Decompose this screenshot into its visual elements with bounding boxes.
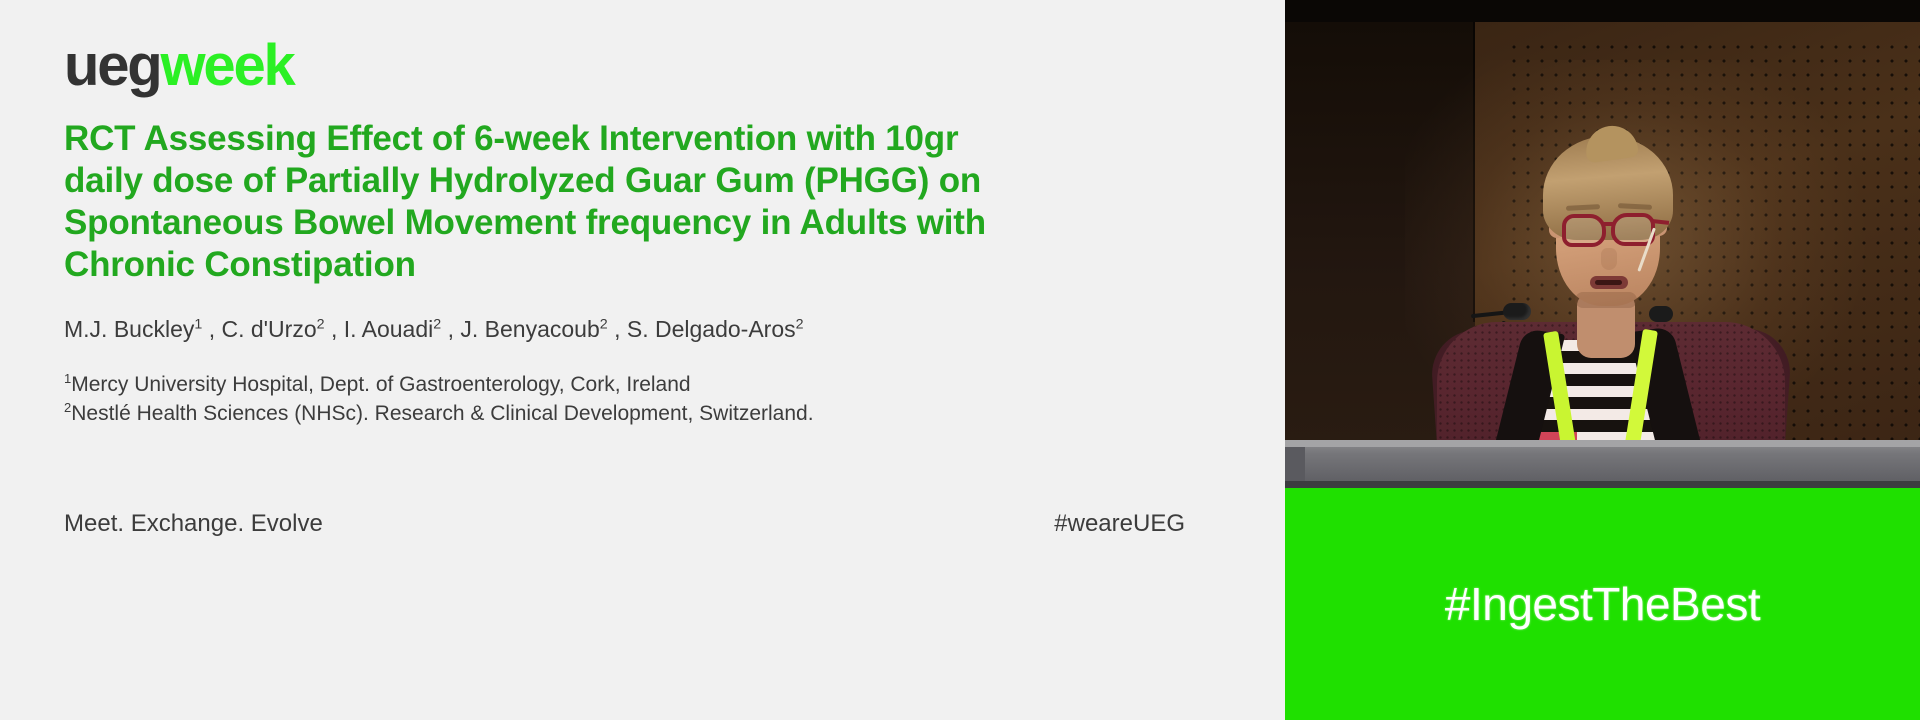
footer-hashtag: #weareUEG (1054, 510, 1185, 538)
author-affiliation-marker: 2 (796, 316, 804, 332)
slide-footer: Meet. Exchange. Evolve #weareUEG (64, 510, 1245, 538)
author-separator: , (325, 316, 344, 342)
author-affiliation-marker: 2 (433, 316, 441, 332)
author-separator: , (202, 316, 221, 342)
ueg-week-presentation-slide: uegweek RCT Assessing Effect of 6-week I… (0, 0, 1920, 720)
author-name: C. d'Urzo (221, 316, 316, 342)
affiliation-text: Mercy University Hospital, Dept. of Gast… (71, 373, 690, 396)
logo-text-week: week (161, 33, 294, 98)
affiliation-item: 2Nestlé Health Sciences (NHSc). Research… (64, 399, 1245, 428)
author-separator: , (608, 316, 627, 342)
title-line-4: Chronic Constipation (64, 244, 1064, 286)
author-name: S. Delgado-Aros (627, 316, 796, 342)
campaign-hashtag-band: #IngestTheBest (1285, 488, 1920, 720)
author-name: J. Benyacoub (460, 316, 599, 342)
author-separator: , (441, 316, 460, 342)
author-item: C. d'Urzo2 (221, 316, 324, 342)
page-title: RCT Assessing Effect of 6-week Intervent… (64, 118, 1064, 286)
speaker-chin-shadow (1575, 292, 1637, 308)
author-item: J. Benyacoub2 (460, 316, 607, 342)
footer-tagline: Meet. Exchange. Evolve (64, 510, 323, 538)
title-line-3: Spontaneous Bowel Movement frequency in … (64, 202, 1064, 244)
author-item: S. Delgado-Aros2 (627, 316, 804, 342)
speaker-glasses-bridge (1604, 222, 1613, 226)
lectern-top-edge (1285, 440, 1920, 447)
campaign-hashtag: #IngestTheBest (1445, 577, 1760, 631)
speaker-figure (1285, 0, 1920, 488)
lectern-side-panel (1285, 447, 1305, 481)
ueg-week-logo: uegweek (64, 34, 1245, 98)
media-pane: #IngestTheBest (1285, 0, 1920, 720)
author-item: M.J. Buckley1 (64, 316, 202, 342)
title-line-1: RCT Assessing Effect of 6-week Intervent… (64, 118, 1064, 160)
author-name: M.J. Buckley (64, 316, 194, 342)
speaker-glasses-left-lens (1562, 214, 1606, 247)
affiliation-text: Nestlé Health Sciences (NHSc). Research … (71, 402, 813, 425)
author-item: I. Aouadi2 (344, 316, 441, 342)
author-name: I. Aouadi (344, 316, 434, 342)
title-line-2: daily dose of Partially Hydrolyzed Guar … (64, 160, 1064, 202)
lectern-bottom-edge (1285, 481, 1920, 488)
speaker-hair-tuft (1583, 123, 1639, 164)
speaker-nose (1601, 248, 1617, 270)
affiliation-item: 1Mercy University Hospital, Dept. of Gas… (64, 370, 1245, 399)
slide-content-pane: uegweek RCT Assessing Effect of 6-week I… (0, 0, 1285, 720)
affiliation-list: 1Mercy University Hospital, Dept. of Gas… (64, 370, 1245, 428)
speaker-mouth-inner (1595, 280, 1622, 285)
author-affiliation-marker: 2 (600, 316, 608, 332)
logo-text-ueg: ueg (64, 33, 161, 98)
author-affiliation-marker: 2 (317, 316, 325, 332)
author-list: M.J. Buckley1 , C. d'Urzo2 , I. Aouadi2 … (64, 314, 1245, 344)
speaker-video[interactable] (1285, 0, 1920, 488)
